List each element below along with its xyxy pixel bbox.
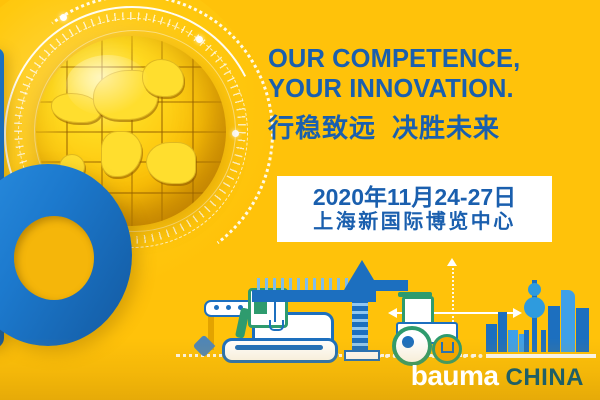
shanghai-skyline-icon [486, 268, 596, 358]
ring-node [232, 130, 239, 137]
machinery-scene [0, 250, 600, 365]
bauma-china-banner: OUR COMPETENCE, YOUR INNOVATION. 行稳致远决胜未… [0, 0, 600, 400]
logo-brand: bauma [411, 362, 499, 390]
headline-line-1: OUR COMPETENCE, [268, 44, 568, 74]
ring-node [60, 14, 67, 21]
headline-chinese-a: 行稳致远 [268, 113, 376, 143]
event-date-panel: 2020年11月24-27日 上海新国际博览中心 [277, 176, 552, 242]
event-venue: 上海新国际博览中心 [313, 210, 516, 234]
logo-region: CHINA [506, 366, 585, 390]
ring-node [196, 36, 203, 43]
headline-block: OUR COMPETENCE, YOUR INNOVATION. 行稳致远决胜未… [268, 44, 568, 146]
headline-chinese: 行稳致远决胜未来 [268, 110, 568, 146]
headline-line-2: YOUR INNOVATION. [268, 74, 568, 104]
headline-chinese-b: 决胜未来 [392, 113, 500, 143]
event-dates: 2020年11月24-27日 [313, 184, 516, 210]
bauma-china-logo: bauma CHINA [411, 362, 584, 390]
